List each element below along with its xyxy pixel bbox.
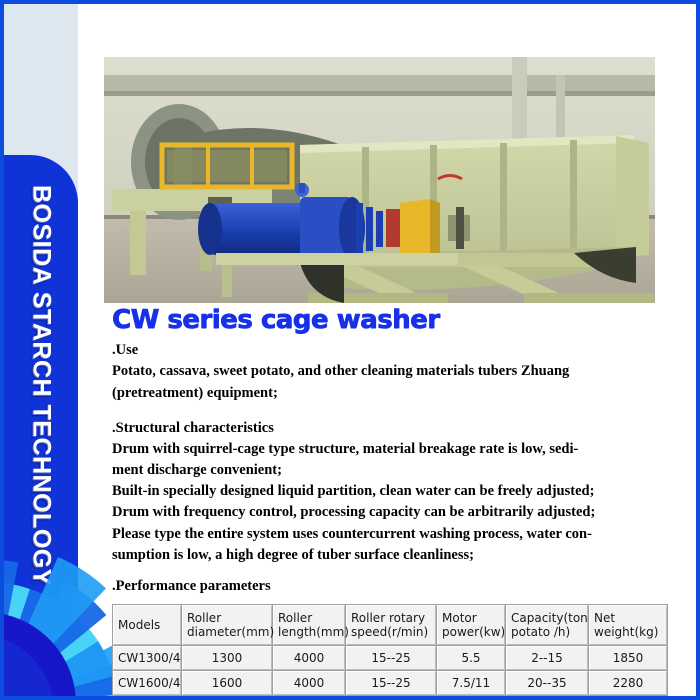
cell-capacity: 40--50 xyxy=(506,696,588,700)
col-header-models: Models xyxy=(113,605,181,645)
cell-roller-diameter: 2000 xyxy=(182,696,272,700)
company-sidebar: BOSIDA STARCH TECHNOLOGY xyxy=(4,155,78,696)
page-title: CW series cage washer xyxy=(112,307,672,334)
structural-line-2: ment discharge convenient; xyxy=(112,460,672,481)
product-spec-sheet: BOSIDA STARCH TECHNOLOGY xyxy=(0,0,700,700)
section-spacer xyxy=(112,404,672,418)
table-row: CW1600/4 1600 4000 15--25 7.5/11 20--35 … xyxy=(113,671,667,695)
performance-parameters-table: Models Roller diameter(mm) Roller length… xyxy=(112,604,668,700)
structural-line-6: sumption is low, a high degree of tuber … xyxy=(112,545,672,566)
section-spacer-2 xyxy=(112,566,672,576)
cell-net-weight: 2280 xyxy=(589,671,667,695)
col-header-capacity: Capacity(ton potato /h) xyxy=(506,605,588,645)
cell-roller-length: 4000 xyxy=(273,646,345,670)
structural-line-3: Built-in specially designed liquid parti… xyxy=(112,481,672,502)
table-row: CW2000/6 2000 6000 15--25 15/22 40--50 3… xyxy=(113,696,667,700)
cell-roller-length: 4000 xyxy=(273,671,345,695)
cell-capacity: 20--35 xyxy=(506,671,588,695)
company-name-vertical: BOSIDA STARCH TECHNOLOGY xyxy=(27,185,56,586)
col-header-motor-power: Motor power(kw) xyxy=(437,605,505,645)
use-line-1: Potato, cassava, sweet potato, and other… xyxy=(112,361,672,382)
col-header-net-weight: Net weight(kg) xyxy=(589,605,667,645)
structural-line-5: Please type the entire system uses count… xyxy=(112,524,672,545)
cell-roller-length: 6000 xyxy=(273,696,345,700)
col-header-roller-rotary-speed: Roller rotary speed(r/min) xyxy=(346,605,436,645)
section-heading-performance: .Performance parameters xyxy=(112,576,672,597)
cell-roller-diameter: 1300 xyxy=(182,646,272,670)
col-header-roller-diameter: Roller diameter(mm) xyxy=(182,605,272,645)
structural-line-4: Drum with frequency control, processing … xyxy=(112,502,672,523)
table-row: CW1300/4 1300 4000 15--25 5.5 2--15 1850 xyxy=(113,646,667,670)
cell-model: CW1300/4 xyxy=(113,646,181,670)
content-area: CW series cage washer .Use Potato, cassa… xyxy=(112,307,672,700)
cell-roller-speed: 15--25 xyxy=(346,696,436,700)
product-photo xyxy=(104,57,655,303)
cell-capacity: 2--15 xyxy=(506,646,588,670)
use-line-2: (pretreatment) equipment; xyxy=(112,383,672,404)
cell-roller-speed: 15--25 xyxy=(346,671,436,695)
cell-net-weight: 3500 xyxy=(589,696,667,700)
section-heading-use: .Use xyxy=(112,340,672,361)
spec-table-container: Models Roller diameter(mm) Roller length… xyxy=(112,604,660,700)
cell-model: CW2000/6 xyxy=(113,696,181,700)
cell-roller-diameter: 1600 xyxy=(182,671,272,695)
cell-roller-speed: 15--25 xyxy=(346,646,436,670)
cell-motor-power: 7.5/11 xyxy=(437,671,505,695)
table-header-row: Models Roller diameter(mm) Roller length… xyxy=(113,605,667,645)
cell-motor-power: 15/22 xyxy=(437,696,505,700)
section-heading-structural: .Structural characteristics xyxy=(112,418,672,439)
cell-model: CW1600/4 xyxy=(113,671,181,695)
cell-net-weight: 1850 xyxy=(589,646,667,670)
col-header-roller-length: Roller length(mm) xyxy=(273,605,345,645)
cell-motor-power: 5.5 xyxy=(437,646,505,670)
structural-line-1: Drum with squirrel-cage type structure, … xyxy=(112,439,672,460)
